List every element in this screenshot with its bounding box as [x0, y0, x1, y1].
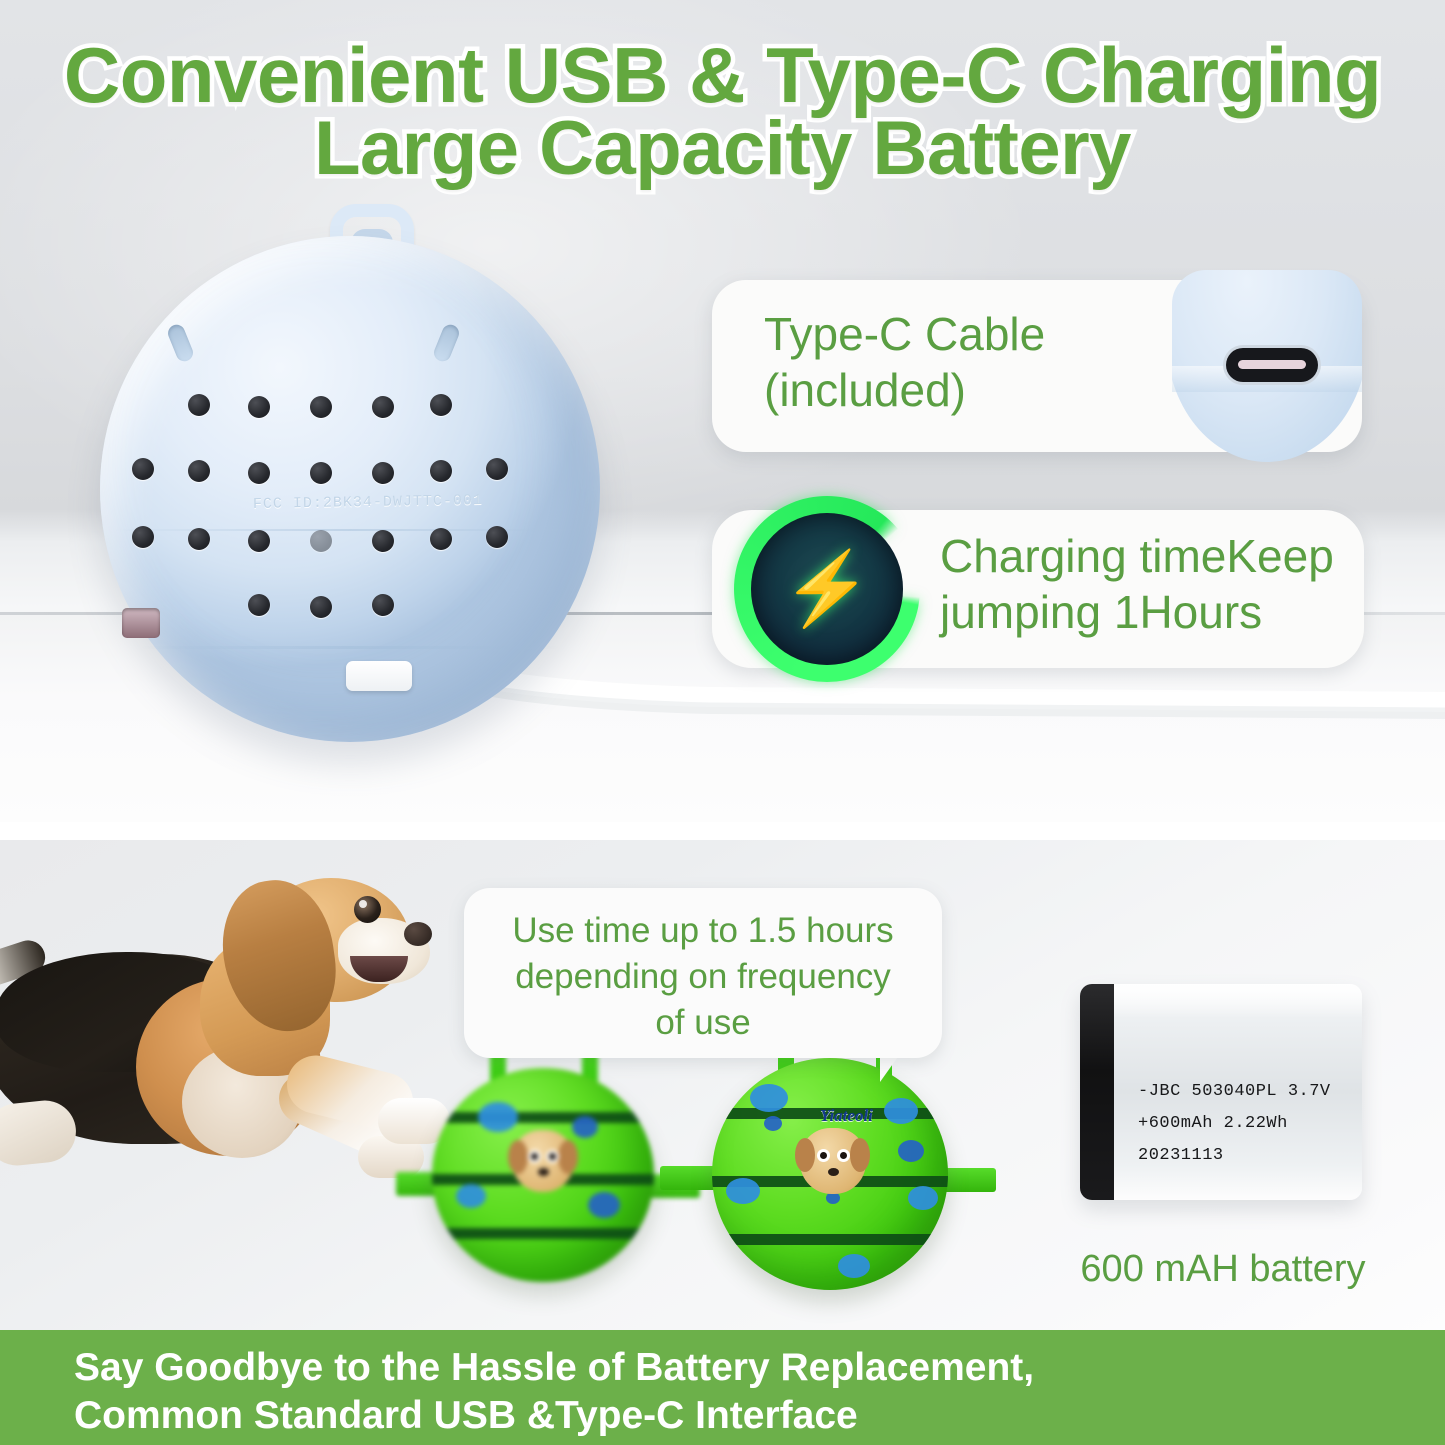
callout-type-c-text: Type-C Cable (included) — [764, 306, 1045, 418]
toy-paw-print — [478, 1102, 518, 1132]
toy-paw-print — [588, 1192, 620, 1218]
speaker-hole — [188, 528, 210, 550]
toy-dog-eye — [528, 1150, 541, 1163]
callout-line-2: (included) — [764, 362, 1045, 418]
toy-dog-eye — [546, 1150, 559, 1163]
speaker-hole — [430, 528, 452, 550]
toy-paw-print — [898, 1140, 924, 1162]
speaker-hole — [430, 460, 452, 482]
speaker-hole — [132, 526, 154, 548]
toy-paw-print — [838, 1254, 870, 1278]
ball-seam — [115, 529, 585, 531]
side-port — [122, 608, 160, 638]
use-time-line-3: of use — [486, 1000, 920, 1046]
toy-paw-print — [456, 1184, 486, 1208]
beagle-dog-image — [0, 850, 446, 1240]
ball-seam-lower — [140, 646, 560, 649]
toy-paw-print — [764, 1116, 782, 1131]
battery-gloss — [1114, 984, 1362, 1018]
battery-image: -JBC 503040PL 3.7V +600mAh 2.22Wh 202311… — [1080, 984, 1362, 1200]
callout-charging-time[interactable]: ⚡ Charging timeKeep jumping 1Hours — [712, 510, 1364, 668]
callout-use-time-text: Use time up to 1.5 hours depending on fr… — [486, 908, 920, 1046]
speaker-hole — [132, 458, 154, 480]
callout-type-c-cable[interactable]: Type-C Cable (included) — [712, 280, 1362, 452]
vent-slot — [166, 322, 196, 364]
battery-label-line-2: +600mAh 2.22Wh 20231113 — [1138, 1108, 1362, 1172]
banner-text: Say Goodbye to the Hassle of Battery Rep… — [74, 1344, 1374, 1440]
speaker-hole — [372, 462, 394, 484]
speaker-hole — [188, 460, 210, 482]
speaker-hole — [248, 396, 270, 418]
speaker-hole — [310, 596, 332, 618]
speaker-hole — [310, 396, 332, 418]
callout-use-time[interactable]: Use time up to 1.5 hours depending on fr… — [464, 888, 942, 1058]
toy-stripe — [432, 1228, 654, 1239]
toy-dog-ear — [795, 1138, 815, 1172]
toy-dog-graphic — [512, 1130, 574, 1192]
speaker-hole — [372, 530, 394, 552]
battery-terminal-edge — [1080, 984, 1114, 1200]
callout-charging-text: Charging timeKeep jumping 1Hours — [940, 528, 1334, 640]
toy-surface: Yiateoli — [712, 1058, 948, 1290]
speaker-hole — [372, 594, 394, 616]
battery-label-text: -JBC 503040PL 3.7V +600mAh 2.22Wh 202311… — [1138, 1076, 1362, 1172]
toy-dog-ear — [558, 1140, 578, 1174]
speaker-hole — [430, 394, 452, 416]
charging-bolt-icon: ⚡ — [734, 496, 920, 682]
usb-c-plug — [346, 661, 412, 691]
section-divider — [0, 822, 1445, 840]
use-time-line-1: Use time up to 1.5 hours — [486, 908, 920, 954]
banner-line-1: Say Goodbye to the Hassle of Battery Rep… — [74, 1344, 1374, 1392]
toy-dog-graphic — [800, 1128, 866, 1194]
toy-brand-label: Yiateoli — [820, 1106, 873, 1126]
toy-dog-eye — [837, 1149, 850, 1162]
speaker-hole — [310, 462, 332, 484]
speaker-hole — [372, 396, 394, 418]
toy-dog-ear — [508, 1140, 528, 1174]
toy-dog-nose — [538, 1168, 549, 1176]
use-time-line-2: depending on frequency — [486, 954, 920, 1000]
callout-line-2: jumping 1Hours — [940, 584, 1334, 640]
toy-dog-nose — [828, 1168, 839, 1176]
callout-line-1: Charging timeKeep — [940, 528, 1334, 584]
speaker-hole — [248, 462, 270, 484]
toy-paw-print — [572, 1116, 598, 1138]
toy-stripe — [432, 1112, 654, 1123]
speaker-hole — [248, 594, 270, 616]
toy-paw-print — [908, 1186, 938, 1210]
toy-paw-print — [726, 1178, 760, 1204]
speaker-hole — [486, 458, 508, 480]
speaker-hole — [486, 526, 508, 548]
toy-dog-eye — [817, 1149, 830, 1162]
charge-core: ⚡ — [751, 513, 903, 665]
dog-nose — [404, 922, 432, 946]
dog-eye — [354, 896, 381, 923]
usb-c-slot — [1226, 348, 1318, 382]
vent-slot — [432, 322, 462, 364]
speaker-hole — [248, 530, 270, 552]
bottom-banner: Say Goodbye to the Hassle of Battery Rep… — [0, 1330, 1445, 1445]
speaker-hole — [310, 530, 332, 552]
charging-ball-product: FCC ID:2BK34-DWJTTC-001 — [78, 206, 618, 746]
usb-c-port-icon — [1172, 270, 1362, 462]
banner-line-2: Common Standard USB &Type-C Interface — [74, 1392, 1374, 1440]
toy-ball-blurred — [432, 1068, 654, 1282]
fcc-id-label: FCC ID:2BK34-DWJTTC-001 — [218, 491, 518, 513]
title-line-2: Large Capacity Battery — [0, 112, 1445, 186]
toy-ball-focused: Yiateoli — [712, 1058, 948, 1290]
toy-surface — [432, 1068, 654, 1282]
lightning-bolt-icon: ⚡ — [782, 553, 872, 625]
callout-line-1: Type-C Cable — [764, 306, 1045, 362]
toy-dog-ear — [850, 1138, 870, 1172]
speaker-hole — [188, 394, 210, 416]
battery-caption: 600 mAH battery — [1008, 1248, 1438, 1291]
title-line-1: Convenient USB & Type-C Charging — [0, 38, 1445, 112]
top-section: FCC ID:2BK34-DWJTTC-001 Type-C Cable (in… — [0, 0, 1445, 822]
toy-paw-print — [750, 1084, 788, 1112]
page-title: Convenient USB & Type-C Charging Large C… — [0, 38, 1445, 186]
infographic-page: FCC ID:2BK34-DWJTTC-001 Type-C Cable (in… — [0, 0, 1445, 1445]
battery-label-line-1: -JBC 503040PL 3.7V — [1138, 1076, 1362, 1108]
toy-stripe — [712, 1234, 948, 1245]
toy-paw-print — [884, 1098, 918, 1124]
